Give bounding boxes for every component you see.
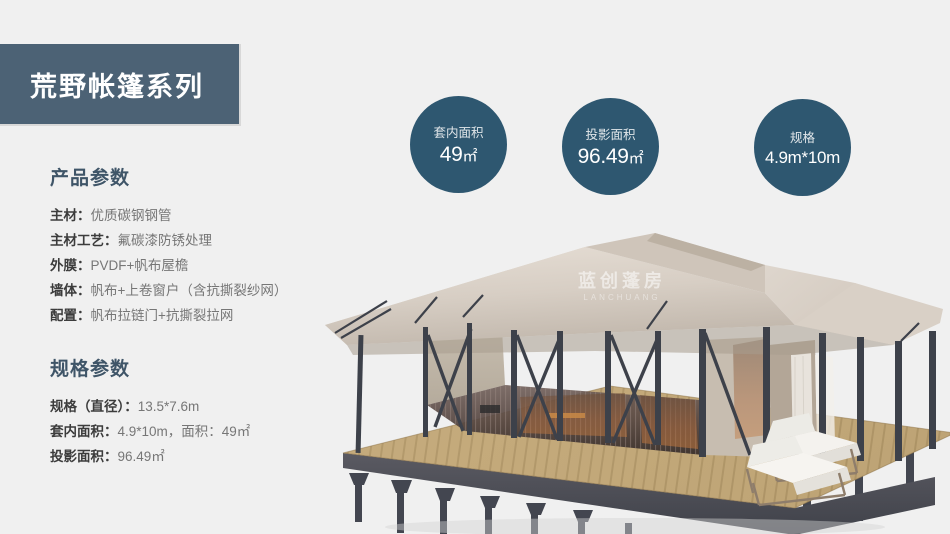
spec-value: 96.49㎡ bbox=[118, 449, 165, 464]
interior-table bbox=[547, 413, 585, 418]
spec-label: 主材： bbox=[50, 208, 91, 223]
stat-value-number: 4.9m*10m bbox=[765, 148, 840, 167]
spec-value: 优质碳钢钢管 bbox=[91, 208, 172, 223]
stat-badge-row: 套内面积 49㎡ 投影面积 96.49㎡ 规格 4.9m*10m bbox=[410, 94, 860, 194]
spec-label: 投影面积： bbox=[50, 449, 118, 464]
tent-render-svg bbox=[295, 205, 950, 534]
series-title-banner: 荒野帐篷系列 bbox=[0, 44, 241, 126]
interior-fixture bbox=[480, 405, 500, 413]
stat-value-unit: ㎡ bbox=[629, 150, 644, 167]
spec-label: 规格（直径）： bbox=[50, 399, 138, 414]
spec-value: 13.5*7.6m bbox=[138, 399, 200, 414]
spec-value: 氟碳漆防锈处理 bbox=[118, 233, 213, 248]
spec-value: PVDF+帆布屋檐 bbox=[91, 258, 189, 273]
stat-badge-label: 套内面积 bbox=[433, 122, 483, 141]
spec-label: 配置： bbox=[50, 308, 91, 323]
spec-value: 4.9*10m，面积：49㎡ bbox=[118, 424, 251, 439]
spec-label: 墙体： bbox=[50, 283, 91, 298]
stat-badge-label: 投影面积 bbox=[585, 124, 635, 143]
spec-label: 外膜： bbox=[50, 258, 91, 273]
spec-label: 主材工艺： bbox=[50, 233, 118, 248]
stat-value-unit: ㎡ bbox=[463, 148, 478, 165]
interior-glow-right bbox=[640, 395, 698, 449]
stat-badge-label: 规格 bbox=[790, 127, 815, 146]
stat-badge-projected-area: 投影面积 96.49㎡ bbox=[562, 98, 659, 195]
page-title: 荒野帐篷系列 bbox=[30, 65, 204, 104]
stat-badge-interior-area: 套内面积 49㎡ bbox=[410, 96, 507, 193]
product-params-heading: 产品参数 bbox=[50, 163, 350, 190]
stat-badge-value: 49㎡ bbox=[440, 143, 477, 167]
tent-3d-render: 蓝创蓬房 LANCHUANG bbox=[295, 205, 950, 534]
stat-badge-value: 96.49㎡ bbox=[578, 145, 644, 169]
stat-value-number: 96.49 bbox=[578, 145, 629, 168]
stat-value-number: 49 bbox=[440, 143, 463, 166]
stat-badge-value: 4.9m*10m bbox=[765, 148, 840, 168]
stat-badge-specification: 规格 4.9m*10m bbox=[754, 99, 851, 196]
spec-value: 帆布+上卷窗户（含抗撕裂纱网） bbox=[91, 283, 288, 298]
spec-label: 套内面积： bbox=[50, 424, 118, 439]
spec-value: 帆布拉链门+抗撕裂拉网 bbox=[91, 308, 234, 323]
